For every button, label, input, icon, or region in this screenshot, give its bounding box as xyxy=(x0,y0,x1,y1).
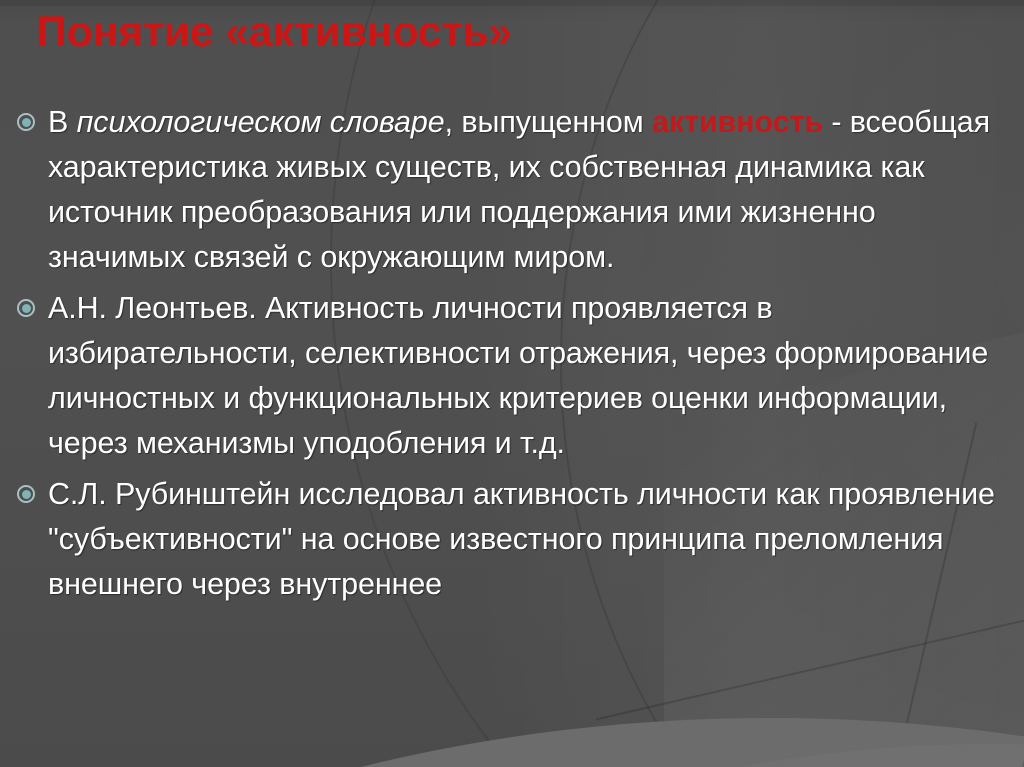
presentation-slide: Понятие «активность» В психологическом с… xyxy=(0,0,1024,767)
ring-dot-bullet-icon xyxy=(8,286,48,330)
list-item: В психологическом словаре, выпущенном ак… xyxy=(8,100,1006,280)
slide-title: Понятие «активность» xyxy=(36,8,966,57)
slide-content: Понятие «активность» В психологическом с… xyxy=(0,0,1024,767)
ring-dot-bullet-icon xyxy=(8,472,48,516)
bullet-text: В психологическом словаре, выпущенном ак… xyxy=(48,100,1006,280)
list-item: А.Н. Леонтьев. Активность личности прояв… xyxy=(8,286,1006,466)
ring-dot-bullet-icon xyxy=(8,100,48,144)
bullet-text: А.Н. Леонтьев. Активность личности прояв… xyxy=(48,286,1006,466)
bullet-text: С.Л. Рубинштейн исследовал активность ли… xyxy=(48,472,1006,607)
bullet-list: В психологическом словаре, выпущенном ак… xyxy=(8,100,1006,613)
list-item: С.Л. Рубинштейн исследовал активность ли… xyxy=(8,472,1006,607)
